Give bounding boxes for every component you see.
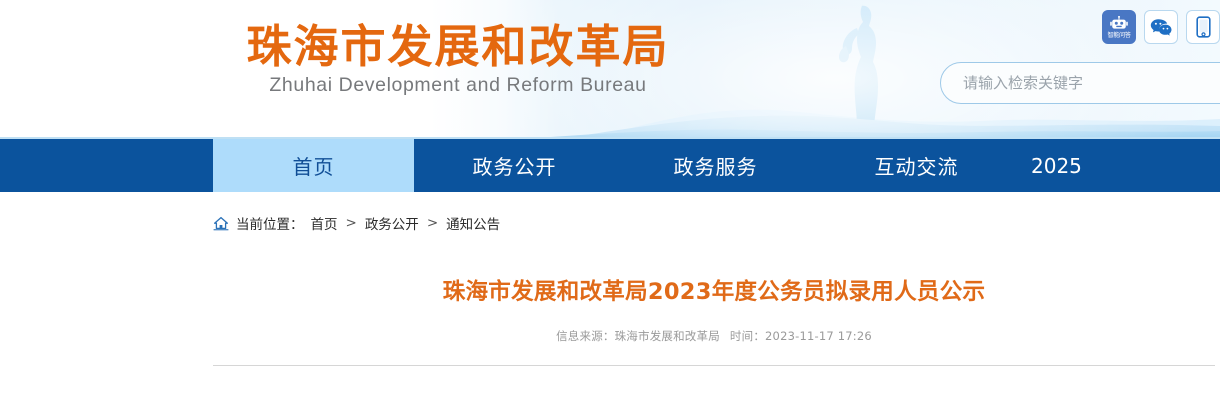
article-header: 珠海市发展和改革局2023年度公务员拟录用人员公示 信息来源：珠海市发展和改革局…: [213, 262, 1215, 366]
site-title-cn: 珠海市发展和改革局: [228, 22, 688, 72]
nav-item-home[interactable]: 首页: [213, 139, 414, 192]
mobile-icon[interactable]: [1186, 10, 1220, 44]
mobile-phone-glyph-icon: [1196, 16, 1211, 38]
breadcrumb-separator: >: [426, 215, 439, 231]
smart-qa-icon[interactable]: 智能问答: [1102, 10, 1136, 44]
site-logo[interactable]: 珠海市发展和改革局 Zhuhai Development and Reform …: [228, 22, 688, 97]
search-container: [940, 62, 1220, 104]
article-divider: [213, 365, 1215, 366]
wechat-glyph-icon: [1150, 18, 1172, 37]
article-time-label: 时间：: [730, 329, 765, 343]
nav-item-government-affairs-disclosure[interactable]: 政务公开: [414, 139, 615, 192]
home-icon[interactable]: [213, 216, 229, 231]
wechat-icon[interactable]: [1144, 10, 1178, 44]
page-root: 珠海市发展和改革局 Zhuhai Development and Reform …: [0, 0, 1220, 400]
page-title: 珠海市发展和改革局2023年度公务员拟录用人员公示: [213, 277, 1215, 307]
main-nav: 首页 政务公开 政务服务 互动交流 2025: [0, 139, 1220, 192]
article-meta: 信息来源：珠海市发展和改革局时间：2023-11-17 17:26: [213, 328, 1215, 344]
article-time-value: 2023-11-17 17:26: [765, 329, 872, 343]
robot-face-icon: [1110, 16, 1128, 32]
breadcrumb-item-home[interactable]: 首页: [311, 213, 338, 233]
smart-qa-label: 智能问答: [1107, 32, 1130, 39]
breadcrumb-separator: >: [345, 215, 358, 231]
top-icon-bar: 智能问答: [1102, 10, 1220, 44]
breadcrumb-prefix: 当前位置：: [236, 213, 304, 233]
breadcrumb-item-disclosure[interactable]: 政务公开: [365, 213, 419, 233]
breadcrumb-item-notices[interactable]: 通知公告: [446, 213, 500, 233]
article-source-label: 信息来源：: [556, 329, 615, 343]
search-input[interactable]: [940, 62, 1220, 104]
breadcrumb: 当前位置： 首页 > 政务公开 > 通知公告: [213, 213, 500, 233]
article-source-value: 珠海市发展和改革局: [615, 329, 720, 343]
nav-item-overflow[interactable]: 2025: [1017, 139, 1220, 192]
site-title-en: Zhuhai Development and Reform Bureau: [228, 74, 688, 97]
site-banner: 珠海市发展和改革局 Zhuhai Development and Reform …: [0, 0, 1220, 139]
nav-left-spacer: [0, 139, 213, 192]
nav-item-interaction[interactable]: 互动交流: [816, 139, 1017, 192]
nav-item-government-services[interactable]: 政务服务: [615, 139, 816, 192]
